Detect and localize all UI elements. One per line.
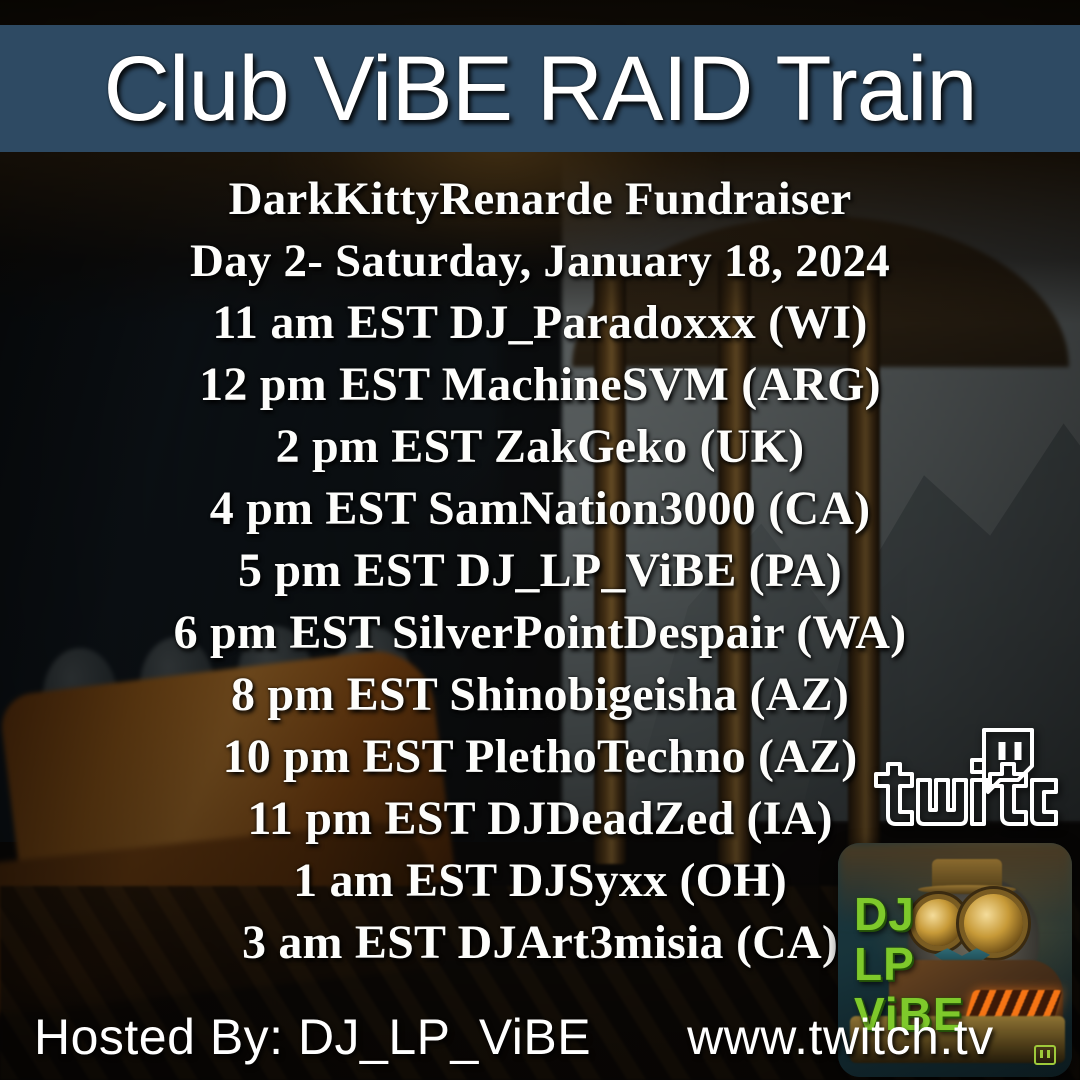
title-banner: Club ViBE RAID Train	[0, 25, 1080, 152]
raid-train-poster: Club ViBE RAID Train DarkKittyRenarde Fu…	[0, 0, 1080, 1080]
schedule-slot: 4 pm EST SamNation3000 (CA)	[0, 478, 1080, 540]
page-title: Club ViBE RAID Train	[103, 43, 976, 135]
schedule-slot: 11 am EST DJ_Paradoxxx (WI)	[0, 292, 1080, 354]
fundraiser-heading: DarkKittyRenarde Fundraiser	[0, 168, 1080, 230]
website-label: www.twitch.tv	[687, 1008, 994, 1066]
footer: Hosted By: DJ_LP_ViBE www.twitch.tv	[0, 1008, 1080, 1066]
schedule-slot: 6 pm EST SilverPointDespair (WA)	[0, 602, 1080, 664]
event-date-heading: Day 2- Saturday, January 18, 2024	[0, 230, 1080, 292]
avatar-goggle-right	[964, 894, 1023, 953]
schedule-slot: 12 pm EST MachineSVM (ARG)	[0, 354, 1080, 416]
schedule-slot: 5 pm EST DJ_LP_ViBE (PA)	[0, 540, 1080, 602]
avatar-line-2: LP	[854, 939, 965, 989]
avatar-line-1: DJ	[854, 889, 965, 939]
hosted-by-label: Hosted By: DJ_LP_ViBE	[34, 1008, 591, 1066]
schedule-slot: 2 pm EST ZakGeko (UK)	[0, 416, 1080, 478]
schedule-slot: 8 pm EST Shinobigeisha (AZ)	[0, 664, 1080, 726]
twitch-logo	[866, 726, 1060, 838]
